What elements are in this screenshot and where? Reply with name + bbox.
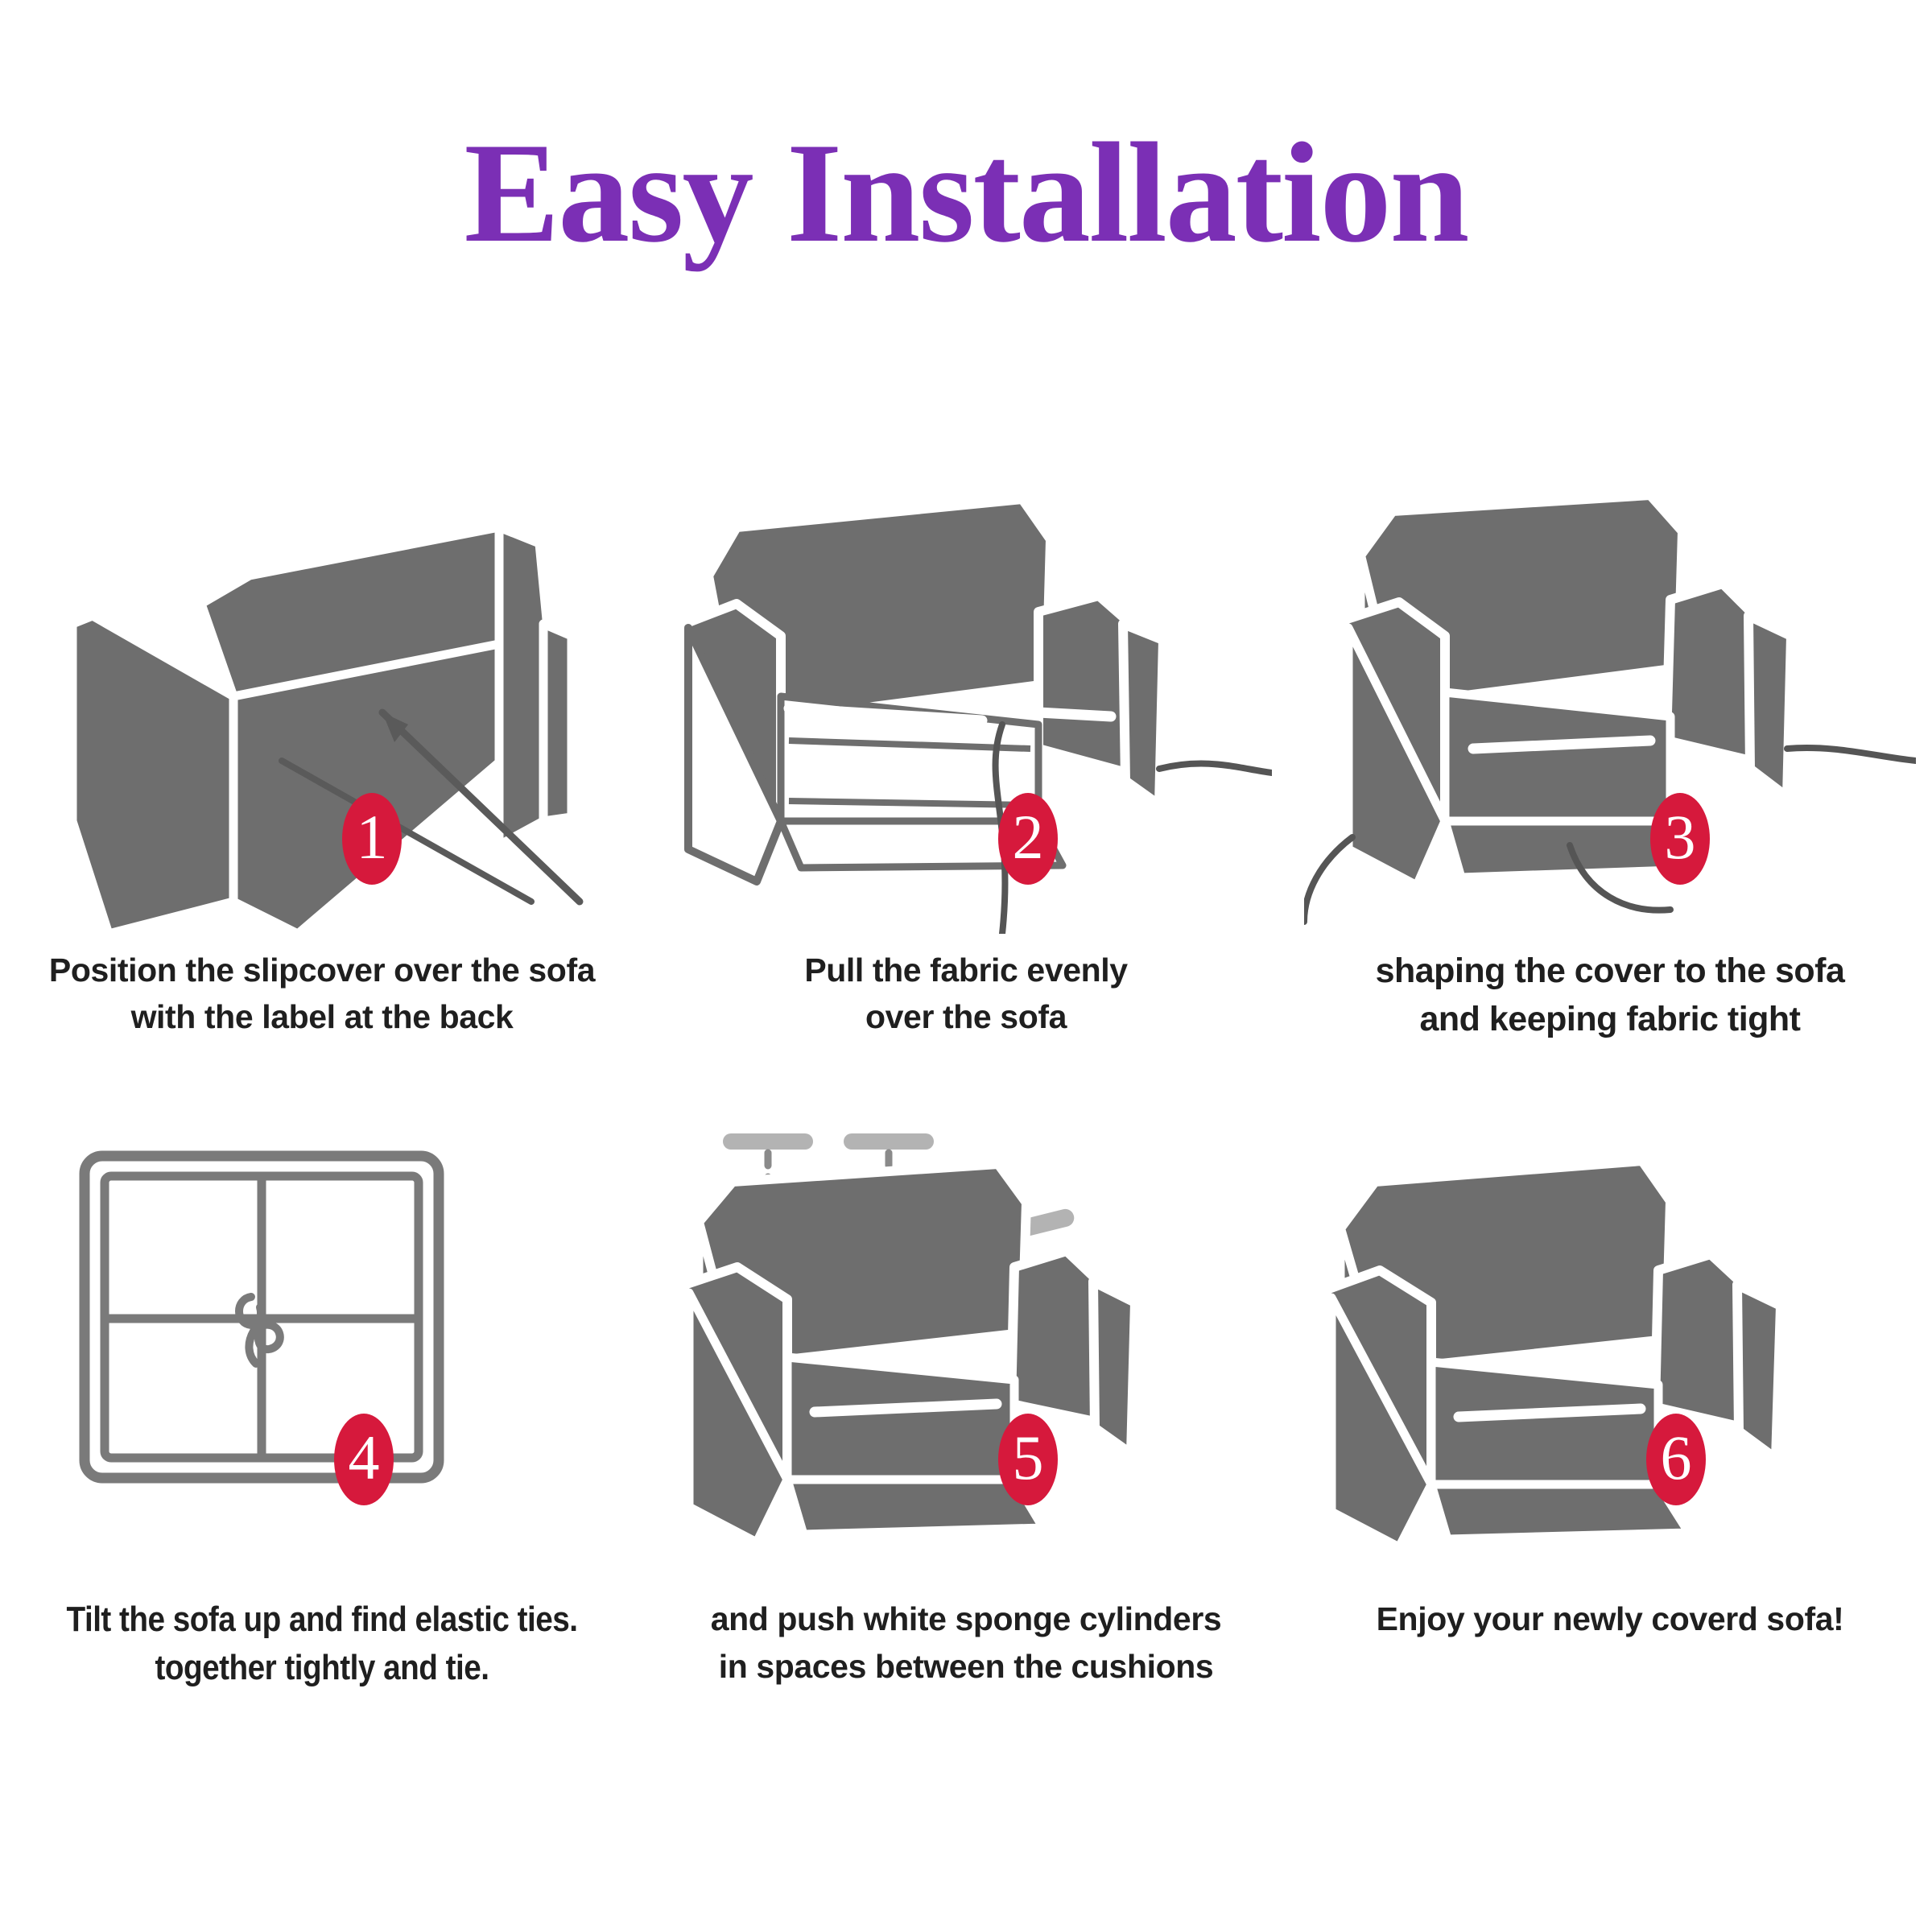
step-number-badge-2: 2 xyxy=(998,793,1058,885)
sofa-shaping-cover-icon xyxy=(1304,495,1916,922)
step-number-badge-1: 1 xyxy=(342,793,402,885)
infographic-page: Easy Installation xyxy=(0,0,1932,1932)
steps-row-top: 1 Position the slipcover over the sofa w… xyxy=(0,483,1932,1043)
steps-grid: 1 Position the slipcover over the sofa w… xyxy=(0,483,1932,1692)
step-1-caption: Position the slipcover over the sofa wit… xyxy=(8,947,636,1040)
step-card-3: 3 shaping the cover to the sofa and keep… xyxy=(1288,483,1932,1043)
page-title-container: Easy Installation xyxy=(0,121,1932,264)
step-card-2: 2 Pull the fabric evenly over the sofa xyxy=(644,483,1288,1043)
sponge-cylinder-2 xyxy=(844,1133,934,1150)
sofa-pull-fabric-icon xyxy=(684,499,1272,934)
step-6-caption: Enjoy your newly coverd sofa! xyxy=(1296,1596,1924,1642)
step-1-caption-line-2: with the label at the back xyxy=(8,993,636,1040)
step-1-illustration: 1 xyxy=(16,483,628,934)
step-number-badge-5: 5 xyxy=(998,1414,1058,1505)
step-5-caption-line-1: and push white sponge cylinders xyxy=(652,1596,1280,1642)
step-4-caption-line-1: Tilt the sofa up and find elastic ties. xyxy=(46,1596,598,1644)
step-5-illustration: 5 xyxy=(660,1132,1272,1583)
sponge-cylinder-1 xyxy=(723,1133,813,1150)
step-3-caption: shaping the cover to the sofa and keepin… xyxy=(1296,947,1924,1043)
step-3-caption-line-1: shaping the cover to the sofa xyxy=(1296,947,1924,995)
step-card-4: 4 Tilt the sofa up and find elastic ties… xyxy=(0,1132,644,1692)
step-4-caption: Tilt the sofa up and find elastic ties. … xyxy=(8,1596,636,1692)
step-number-badge-4: 4 xyxy=(334,1414,394,1505)
step-card-5: 5 and push white sponge cylinders in spa… xyxy=(644,1132,1288,1692)
step-6-caption-line-1: Enjoy your newly coverd sofa! xyxy=(1296,1596,1924,1642)
slipcover-drape-icon xyxy=(72,527,580,934)
step-2-caption: Pull the fabric evenly over the sofa xyxy=(652,947,1280,1040)
step-4-illustration: 4 xyxy=(16,1132,628,1583)
step-6-illustration: 6 xyxy=(1304,1132,1916,1583)
page-title: Easy Installation xyxy=(464,121,1468,264)
step-3-caption-line-2: and keeping fabric tight xyxy=(1296,995,1924,1043)
finished-sofa-icon xyxy=(1327,1161,1781,1547)
steps-row-bottom: 4 Tilt the sofa up and find elastic ties… xyxy=(0,1132,1932,1692)
sponge-cylinder-push-icon xyxy=(684,1133,1135,1542)
step-2-caption-line-1: Pull the fabric evenly xyxy=(652,947,1280,993)
step-2-illustration: 2 xyxy=(660,483,1272,934)
step-card-1: 1 Position the slipcover over the sofa w… xyxy=(0,483,644,1043)
step-5-caption-line-2: in spaces between the cushions xyxy=(652,1643,1280,1690)
step-5-caption: and push white sponge cylinders in space… xyxy=(652,1596,1280,1689)
step-1-caption-line-1: Position the slipcover over the sofa xyxy=(8,947,636,993)
step-number-badge-3: 3 xyxy=(1650,793,1710,885)
step-card-6: 6 Enjoy your newly coverd sofa! xyxy=(1288,1132,1932,1692)
step-3-illustration: 3 xyxy=(1304,483,1916,934)
step-4-caption-line-2: together tightly and tie. xyxy=(46,1644,598,1692)
step-number-badge-6: 6 xyxy=(1646,1414,1706,1505)
step-2-caption-line-2: over the sofa xyxy=(652,993,1280,1040)
